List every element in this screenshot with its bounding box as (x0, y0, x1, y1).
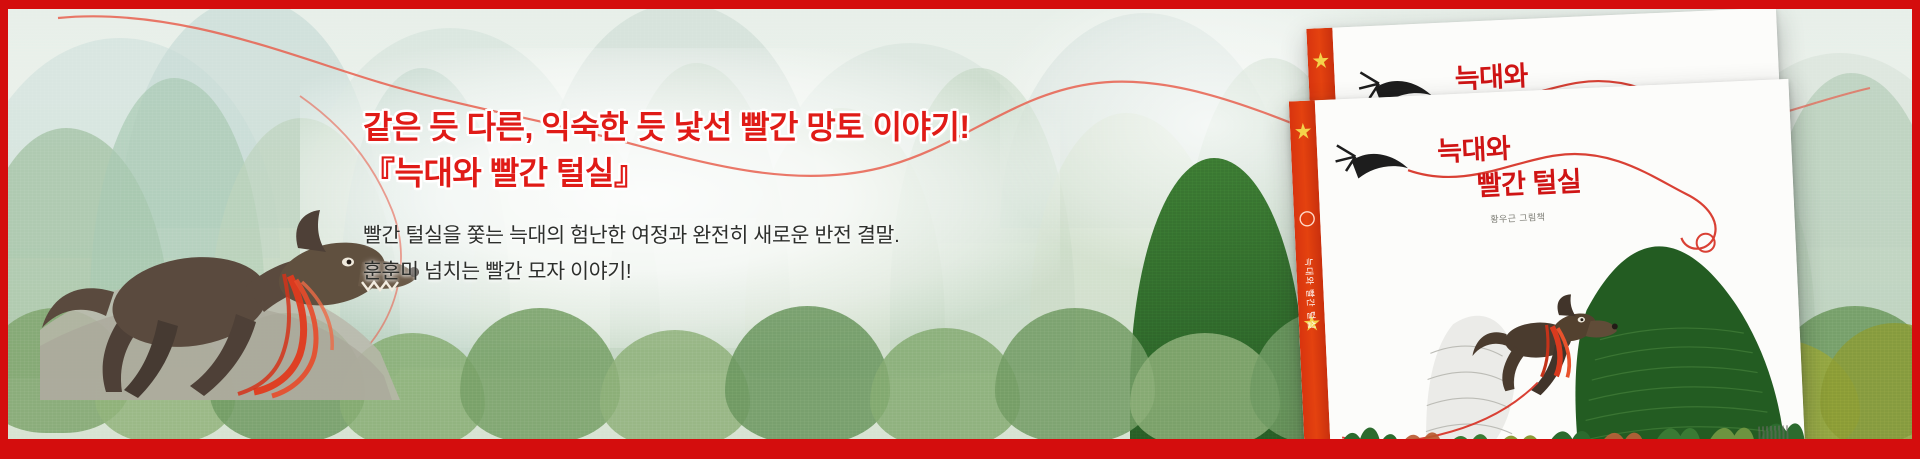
book-stack: 늑대와 빨간 털실 (1255, 0, 1920, 440)
headline: 같은 듯 다른, 익숙한 듯 낯선 빨간 망토 이야기! 『늑대와 빨간 털실』 (363, 104, 1023, 196)
book-cover-front[interactable]: 늑대와 빨간 털실 (1289, 79, 1805, 459)
book-title-front-line-2: 빨간 털실 (1476, 164, 1582, 203)
promo-banner: 같은 듯 다른, 익숙한 듯 낯선 빨간 망토 이야기! 『늑대와 빨간 털실』… (0, 0, 1920, 459)
headline-line-2: 『늑대와 빨간 털실』 (363, 150, 1023, 196)
book-title-front-line-1: 늑대와 (1437, 134, 1511, 167)
book-title-front: 늑대와 빨간 털실 (1436, 128, 1581, 204)
book-cover-inner-front: 늑대와 빨간 털실 황우근 그림책 (1315, 79, 1805, 459)
body-copy: 빨간 털실을 쫓는 늑대의 험난한 여정과 완전히 새로운 반전 결말. 훈훈미… (363, 218, 1023, 290)
book-credit-front: 황우근 그림책 (1490, 210, 1546, 225)
body-line-2: 훈훈미 넘치는 빨간 모자 이야기! (363, 254, 1023, 290)
promo-copy: 같은 듯 다른, 익숙한 듯 낯선 빨간 망토 이야기! 『늑대와 빨간 털실』… (363, 104, 1023, 290)
frame-right-bar (1912, 0, 1920, 459)
frame-top-bar (0, 0, 1920, 9)
frame-left-bar (0, 0, 8, 459)
headline-line-1: 같은 듯 다른, 익숙한 듯 낯선 빨간 망토 이야기! (363, 109, 970, 145)
book-title-back-line-1: 늑대와 (1454, 61, 1528, 94)
frame-bottom-bar (0, 439, 1920, 459)
body-line-1: 빨간 털실을 쫓는 늑대의 험난한 여정과 완전히 새로운 반전 결말. (363, 218, 1023, 254)
